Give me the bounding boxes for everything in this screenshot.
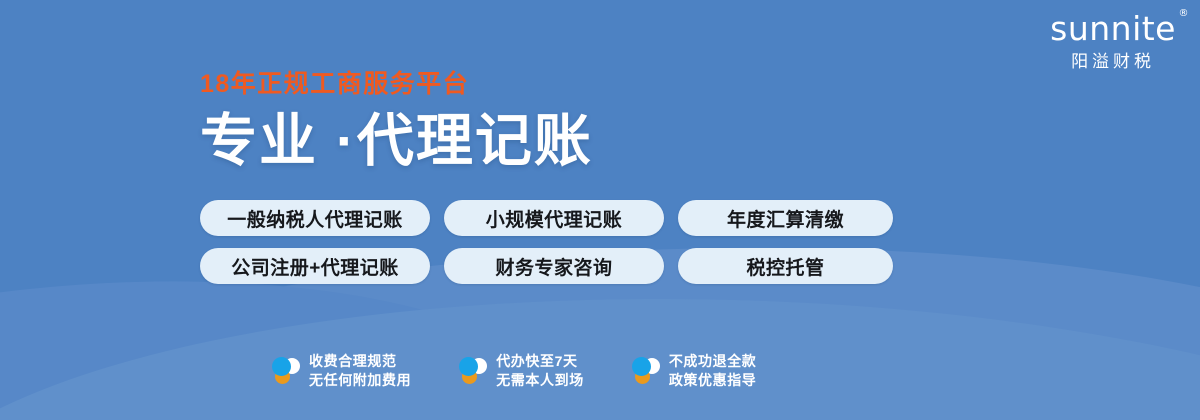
feature-line-1: 收费合理规范 [309, 352, 411, 371]
two-tone-circle-icon [632, 356, 660, 386]
service-pill[interactable]: 小规模代理记账 [444, 200, 664, 236]
logo-chinese-name: 阳溢财税 [1050, 53, 1176, 70]
feature-text: 收费合理规范 无任何附加费用 [309, 352, 411, 390]
registered-trademark-icon: ® [1179, 9, 1190, 19]
feature-item: 收费合理规范 无任何附加费用 [272, 352, 411, 390]
service-pill[interactable]: 税控托管 [678, 248, 893, 284]
hero-tagline: 18年正规工商服务平台 [200, 72, 593, 97]
circle-blue-shape [632, 357, 651, 376]
feature-line-2: 无需本人到场 [496, 371, 584, 390]
feature-item: 不成功退全款 政策优惠指导 [632, 352, 757, 390]
logo-wordmark: sunnite® [1050, 12, 1176, 45]
two-tone-circle-icon [459, 356, 487, 386]
feature-line-2: 无任何附加费用 [309, 371, 411, 390]
service-pill[interactable]: 财务专家咨询 [444, 248, 664, 284]
background-wave-lower [0, 276, 1200, 420]
promo-banner: sunnite® 阳溢财税 18年正规工商服务平台 专业 ·代理记账 一般纳税人… [0, 0, 1200, 420]
hero-headline: 专业 ·代理记账 [200, 111, 593, 173]
hero-text-block: 18年正规工商服务平台 专业 ·代理记账 [200, 72, 593, 173]
feature-line-1: 不成功退全款 [669, 352, 757, 371]
feature-text: 不成功退全款 政策优惠指导 [669, 352, 757, 390]
feature-strip: 收费合理规范 无任何附加费用 代办快至7天 无需本人到场 不成功退全款 [272, 352, 756, 390]
two-tone-circle-icon [272, 356, 300, 386]
service-pill[interactable]: 年度汇算清缴 [678, 200, 893, 236]
service-pill-grid: 一般纳税人代理记账 小规模代理记账 年度汇算清缴 公司注册+代理记账 财务专家咨… [200, 200, 893, 284]
service-pill[interactable]: 一般纳税人代理记账 [200, 200, 430, 236]
circle-blue-shape [272, 357, 291, 376]
service-pill[interactable]: 公司注册+代理记账 [200, 248, 430, 284]
feature-text: 代办快至7天 无需本人到场 [496, 352, 584, 390]
feature-item: 代办快至7天 无需本人到场 [459, 352, 584, 390]
brand-logo[interactable]: sunnite® 阳溢财税 [1050, 12, 1176, 70]
feature-line-1: 代办快至7天 [496, 352, 584, 371]
feature-line-2: 政策优惠指导 [669, 371, 757, 390]
